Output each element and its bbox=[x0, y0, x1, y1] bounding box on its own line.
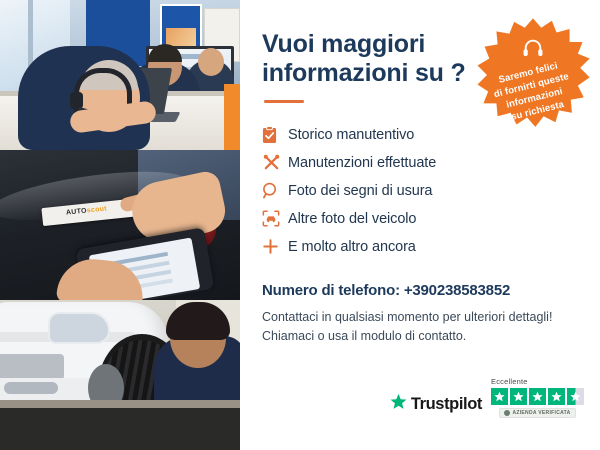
agent-foreground-body bbox=[18, 46, 150, 150]
contact-text: Contattaci in qualsiasi momento per ulte… bbox=[262, 308, 578, 346]
fog-light bbox=[4, 382, 58, 394]
list-item: E molto altro ancora bbox=[262, 233, 578, 260]
list-item-label: Altre foto del veicolo bbox=[288, 211, 416, 227]
verified-check-icon bbox=[504, 410, 510, 416]
trustpilot-rating-label: Eccellente bbox=[491, 377, 528, 386]
feature-list: Storico manutentivo Manutenzioni effettu… bbox=[262, 121, 578, 260]
orange-divider-object bbox=[224, 84, 240, 150]
trustpilot-star-icon bbox=[390, 393, 407, 415]
trustpilot-widget[interactable]: Trustpilot Eccellente bbox=[390, 377, 584, 418]
trustpilot-rating: Eccellente bbox=[491, 377, 584, 418]
photo-applying-auto-sticker-to-car: AUTOscout bbox=[0, 150, 240, 300]
list-item-label: Storico manutentivo bbox=[288, 127, 414, 143]
page-title: Vuoi maggiori informazioni su ? bbox=[262, 30, 477, 88]
headset-icon bbox=[522, 38, 544, 63]
list-item: Manutenzioni effettuate bbox=[262, 149, 578, 176]
star-filled bbox=[491, 388, 508, 405]
verified-company-badge: AZIENDA VERIFICATA bbox=[499, 408, 575, 418]
list-item: Altre foto del veicolo bbox=[262, 205, 578, 232]
contact-line-1: Contattaci in qualsiasi momento per ulte… bbox=[262, 308, 578, 327]
clipboard-check-icon bbox=[262, 126, 288, 144]
promo-card: AUTOscout bbox=[0, 0, 600, 450]
sticker-prefix: AUTO bbox=[66, 208, 88, 217]
agent-head-3 bbox=[198, 48, 224, 76]
headlight bbox=[48, 312, 110, 344]
workbench-shadow bbox=[0, 408, 240, 450]
trustpilot-logo: Trustpilot bbox=[390, 393, 482, 418]
list-item-label: Foto dei segni di usura bbox=[288, 183, 432, 199]
content-panel: Vuoi maggiori informazioni su ? Saremo f… bbox=[240, 0, 600, 450]
callout-badge: Saremo felici di fornirti queste informa… bbox=[474, 16, 592, 134]
photo-call-center-agents-with-headsets bbox=[0, 0, 240, 150]
photo-column: AUTOscout bbox=[0, 0, 240, 450]
star-filled bbox=[529, 388, 546, 405]
front-grille bbox=[0, 354, 64, 380]
trustpilot-name: Trustpilot bbox=[411, 395, 482, 414]
car-frame-photo-icon bbox=[262, 210, 288, 227]
crossed-tools-icon bbox=[262, 153, 288, 172]
verified-label: AZIENDA VERIFICATA bbox=[512, 410, 570, 416]
star-filled bbox=[548, 388, 565, 405]
phone-number[interactable]: Numero di telefono: +390238583852 bbox=[262, 282, 578, 299]
sticker-suffix: scout bbox=[86, 205, 107, 214]
star-partial bbox=[567, 388, 584, 405]
list-item-label: Manutenzioni effettuate bbox=[288, 155, 436, 171]
magnifier-icon bbox=[262, 182, 288, 199]
photo-mechanic-inspecting-wheel bbox=[0, 300, 240, 450]
plus-icon bbox=[262, 238, 288, 255]
list-item: Foto dei segni di usura bbox=[262, 177, 578, 204]
sticker-text: AUTOscout bbox=[66, 205, 108, 216]
trustpilot-stars bbox=[491, 388, 584, 405]
list-item-label: E molto altro ancora bbox=[288, 239, 416, 255]
title-divider bbox=[264, 100, 304, 103]
star-filled bbox=[510, 388, 527, 405]
contact-line-2: Chiamaci o usa il modulo di contatto. bbox=[262, 327, 578, 346]
